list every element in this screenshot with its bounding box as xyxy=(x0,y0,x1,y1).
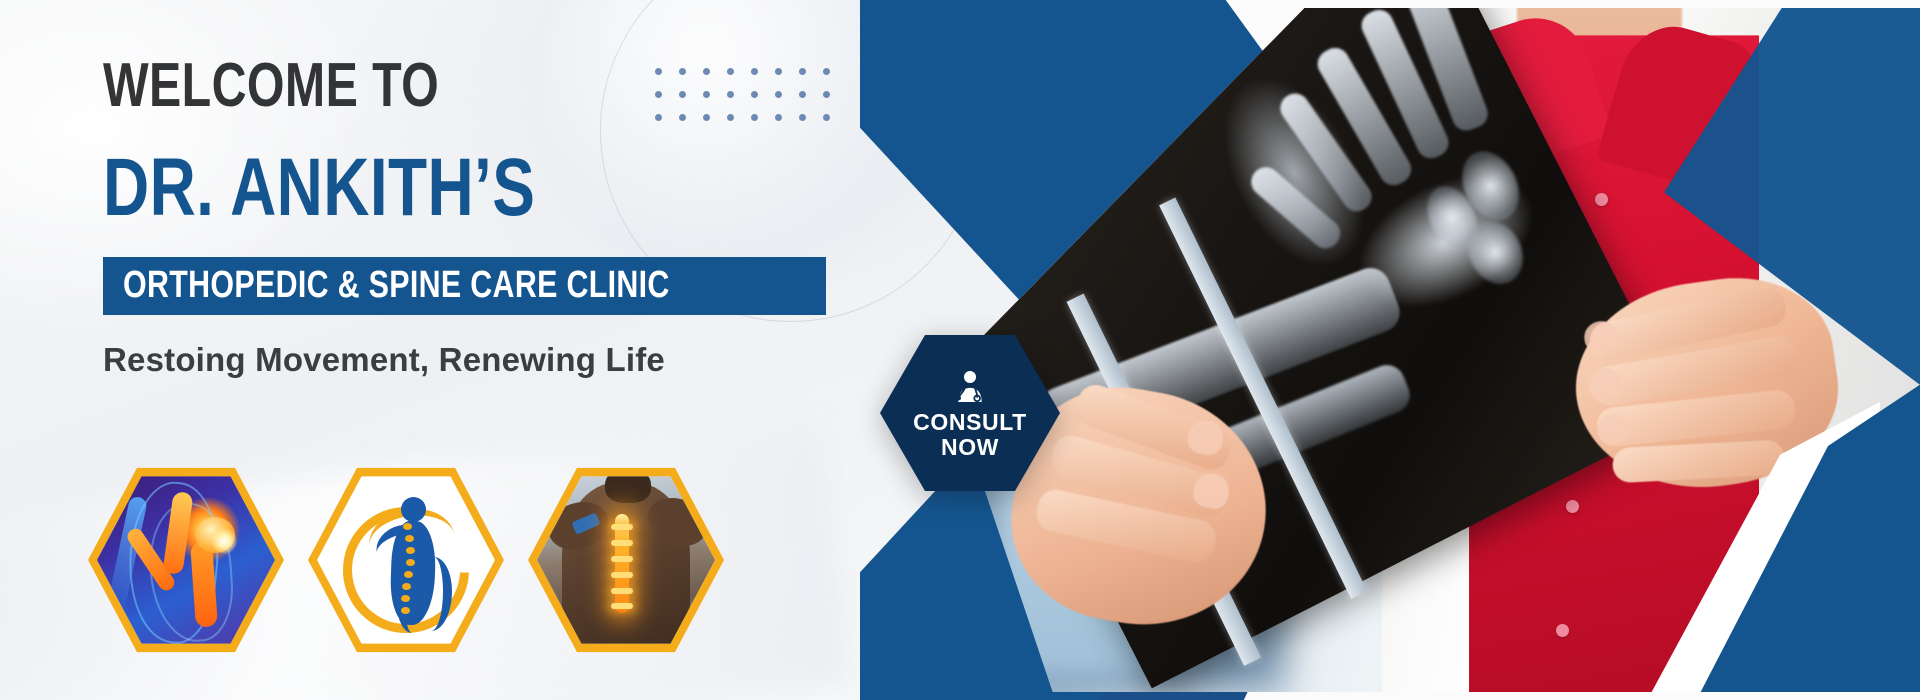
shirt-button xyxy=(1595,193,1608,206)
page-title: DR. ANKITH’S xyxy=(103,147,665,229)
headline-block: WELCOME TO DR. ANKITH’S ORTHOPEDIC & SPI… xyxy=(103,55,823,379)
pain-glow xyxy=(211,528,237,554)
eyebrow-text: WELCOME TO xyxy=(103,55,665,117)
vertebra xyxy=(611,603,633,609)
vertebra xyxy=(611,556,633,562)
consult-now-button[interactable]: CONSULT NOW xyxy=(880,335,1060,491)
spine-vertebrae-dots xyxy=(401,523,417,615)
consult-label-line1: CONSULT xyxy=(913,411,1027,435)
consult-now-hexagon[interactable]: CONSULT NOW xyxy=(880,335,1060,491)
clinic-hero-banner: WELCOME TO DR. ANKITH’S ORTHOPEDIC & SPI… xyxy=(0,0,1920,700)
specialty-badge: ORTHOPEDIC & SPINE CARE CLINIC xyxy=(103,257,826,315)
doctor-stethoscope-icon xyxy=(950,370,990,404)
vertebra xyxy=(611,540,633,546)
feature-hexagon-row xyxy=(88,462,724,658)
grid-dot xyxy=(823,114,830,121)
specialty-badge-label: ORTHOPEDIC & SPINE CARE CLINIC xyxy=(123,266,670,304)
vertebra xyxy=(611,588,633,594)
spine-care-logo-hexagon[interactable] xyxy=(308,462,504,658)
figure-head xyxy=(401,497,426,522)
grid-dot xyxy=(823,68,830,75)
vertebra xyxy=(611,524,633,530)
grid-dot xyxy=(823,91,830,98)
consult-label-line2: NOW xyxy=(941,435,999,461)
vertebra xyxy=(611,572,633,578)
tagline-text: Restoing Movement, Renewing Life xyxy=(103,341,823,379)
shirt-button xyxy=(1556,624,1569,637)
knee-joint-xray-hexagon[interactable] xyxy=(88,462,284,658)
back-pain-photo-hexagon[interactable] xyxy=(528,462,724,658)
